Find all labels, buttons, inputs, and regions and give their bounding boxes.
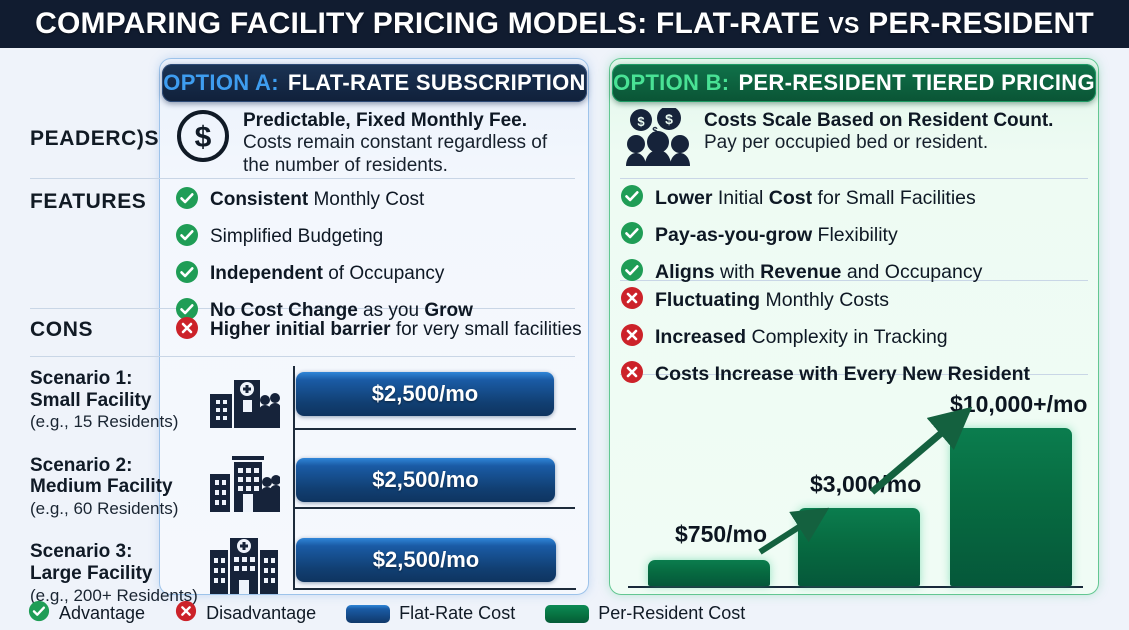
scenario-subtitle: (e.g., 60 Residents) bbox=[30, 499, 210, 519]
option-b-headline-text: Costs Scale Based on Resident Count. Pay… bbox=[704, 108, 1053, 155]
divider-pros-features bbox=[30, 178, 575, 179]
list-item-bold: Higher initial barrier bbox=[210, 319, 391, 340]
flat-rate-bar-row-2: $2,500/mo bbox=[208, 450, 578, 522]
page-title-vs: VS bbox=[829, 12, 860, 38]
list-item-bold: Increased bbox=[655, 326, 746, 348]
check-circle-icon bbox=[620, 258, 644, 287]
x-circle-icon bbox=[620, 323, 644, 352]
option-a-pros-list: Consistent Monthly Cost Simplified Budge… bbox=[175, 186, 580, 334]
per-resident-bar-3 bbox=[950, 428, 1072, 586]
per-resident-bar-label-1: $750/mo bbox=[675, 521, 767, 548]
list-item: Fluctuating Monthly Costs bbox=[620, 286, 1090, 315]
scenario-label-3: Scenario 3: Large Facility (e.g., 200+ R… bbox=[30, 541, 210, 606]
option-b-cons-list: Fluctuating Monthly Costs Increased Comp… bbox=[620, 286, 1090, 397]
list-item-text: with bbox=[715, 261, 761, 283]
flat-rate-baseline-2 bbox=[293, 507, 575, 509]
check-circle-icon bbox=[175, 186, 199, 215]
page-title: COMPARING FACILITY PRICING MODELS: FLAT-… bbox=[35, 7, 1094, 41]
scenario-title-line1: Scenario 3: bbox=[30, 541, 210, 563]
list-item-text: Complexity in Tracking bbox=[746, 326, 948, 348]
svg-text:$: $ bbox=[637, 114, 645, 129]
row-label-features: FEATURES bbox=[30, 190, 146, 214]
list-item: Consistent Monthly Cost bbox=[175, 186, 580, 215]
check-circle-icon bbox=[175, 260, 199, 289]
legend-item-per-resident: Per-Resident Cost bbox=[545, 603, 745, 624]
page-title-main: COMPARING FACILITY PRICING MODELS: FLAT-… bbox=[35, 7, 828, 40]
check-circle-icon bbox=[620, 221, 644, 250]
list-item-text-2: and Occupancy bbox=[841, 261, 982, 283]
list-item-text: Simplified Budgeting bbox=[210, 226, 383, 247]
option-b-pros-list: Lower Initial Cost for Small Facilities … bbox=[620, 184, 1090, 295]
scenario-title-line1: Scenario 2: bbox=[30, 455, 210, 477]
list-item-bold: Independent bbox=[210, 263, 323, 284]
dollar-circle-icon: $ bbox=[175, 108, 231, 169]
per-resident-bar-chart: $750/mo $3,000/mo $10,000+/mo bbox=[620, 382, 1090, 594]
list-item-bold: Fluctuating bbox=[655, 289, 760, 311]
flat-rate-bar-row-1: $2,500/mo bbox=[208, 372, 578, 444]
chart-b-baseline bbox=[628, 586, 1083, 588]
list-item: Simplified Budgeting bbox=[175, 223, 580, 252]
svg-text:$: $ bbox=[195, 121, 212, 154]
title-bar: COMPARING FACILITY PRICING MODELS: FLAT-… bbox=[0, 0, 1129, 48]
list-item-bold: Lower bbox=[655, 187, 712, 209]
option-a-headline-line2: Costs remain constant regardless of bbox=[243, 132, 547, 155]
option-b-tag: OPTION B: bbox=[613, 70, 729, 96]
flat-rate-bar-value-2: $2,500/mo bbox=[372, 467, 478, 493]
scenario-label-1: Scenario 1: Small Facility (e.g., 15 Res… bbox=[30, 368, 210, 433]
list-item-text: Monthly Costs bbox=[760, 289, 889, 311]
legend-label-flat-rate: Flat-Rate Cost bbox=[399, 603, 515, 624]
legend-item-advantage: Advantage bbox=[28, 600, 145, 627]
list-item-text: Flexibility bbox=[812, 224, 898, 246]
scenario-title-line2: Medium Facility bbox=[30, 476, 210, 498]
list-item-text: of Occupancy bbox=[323, 263, 444, 284]
option-a-headline-line1: Predictable, Fixed Monthly Fee. bbox=[243, 110, 547, 132]
list-item-text-2: for Small Facilities bbox=[812, 187, 976, 209]
flat-rate-bar-1: $2,500/mo bbox=[296, 372, 554, 416]
legend-label-disadvantage: Disadvantage bbox=[206, 603, 316, 624]
scenario-title-line2: Small Facility bbox=[30, 390, 210, 412]
option-a-tag: OPTION A: bbox=[163, 70, 279, 96]
x-circle-icon bbox=[175, 600, 197, 627]
list-item-bold-2: Revenue bbox=[760, 261, 841, 283]
list-item-text: Monthly Cost bbox=[308, 189, 424, 210]
x-circle-icon bbox=[175, 316, 199, 345]
option-a-header[interactable]: OPTION A:FLAT-RATE SUBSCRIPTION bbox=[162, 64, 587, 102]
small-hospital-icon bbox=[208, 378, 280, 435]
list-item-text: Initial bbox=[712, 187, 768, 209]
svg-text:$: $ bbox=[652, 126, 658, 137]
scenario-subtitle: (e.g., 15 Residents) bbox=[30, 412, 210, 432]
blue-swatch-icon bbox=[346, 605, 390, 623]
flat-rate-bar-value-1: $2,500/mo bbox=[372, 381, 478, 407]
legend: Advantage Disadvantage Flat-Rate Cost Pe… bbox=[28, 600, 775, 627]
row-label-cons: CONS bbox=[30, 318, 93, 342]
per-resident-bar-1 bbox=[648, 560, 770, 586]
people-with-coins-icon: $ $ $ bbox=[624, 108, 692, 171]
scenario-title-line2: Large Facility bbox=[30, 563, 210, 585]
list-item: Aligns with Revenue and Occupancy bbox=[620, 258, 1090, 287]
option-b-header[interactable]: OPTION B:PER-RESIDENT TIERED PRICING bbox=[612, 64, 1096, 102]
flat-rate-baseline-3 bbox=[293, 588, 576, 590]
medium-hospital-icon bbox=[208, 456, 280, 517]
legend-label-per-resident: Per-Resident Cost bbox=[598, 603, 745, 624]
flat-rate-bar-2: $2,500/mo bbox=[296, 458, 555, 502]
check-circle-icon bbox=[620, 184, 644, 213]
legend-label-advantage: Advantage bbox=[59, 603, 145, 624]
per-resident-bar-label-3: $10,000+/mo bbox=[950, 391, 1087, 418]
infographic-root: COMPARING FACILITY PRICING MODELS: FLAT-… bbox=[0, 0, 1129, 630]
list-item: Independent of Occupancy bbox=[175, 260, 580, 289]
x-circle-icon bbox=[620, 286, 644, 315]
list-item: Lower Initial Cost for Small Facilities bbox=[620, 184, 1090, 213]
green-swatch-icon bbox=[545, 605, 589, 623]
list-item: Increased Complexity in Tracking bbox=[620, 323, 1090, 352]
list-item-bold-2: Cost bbox=[769, 187, 812, 209]
list-item-bold: Consistent bbox=[210, 189, 308, 210]
option-b-title: PER-RESIDENT TIERED PRICING bbox=[738, 70, 1094, 96]
list-item: Higher initial barrier for very small fa… bbox=[175, 316, 580, 345]
option-a-headline-text: Predictable, Fixed Monthly Fee. Costs re… bbox=[243, 108, 547, 178]
scenario-label-list: Scenario 1: Small Facility (e.g., 15 Res… bbox=[30, 368, 210, 628]
legend-item-disadvantage: Disadvantage bbox=[175, 600, 316, 627]
flat-rate-bar-chart: $2,500/mo bbox=[208, 366, 578, 594]
option-a-headline: $ Predictable, Fixed Monthly Fee. Costs … bbox=[175, 108, 575, 178]
per-resident-bar-2 bbox=[798, 508, 920, 586]
option-b-headline: $ $ $ Costs Scale Based on Resident Coun… bbox=[624, 108, 1086, 171]
list-item-text: for very small facilities bbox=[391, 319, 582, 340]
divider-cons-chart bbox=[30, 356, 575, 357]
large-hospital-icon bbox=[208, 532, 280, 599]
row-label-pros: PEADERC)S bbox=[30, 127, 159, 151]
scenario-label-2: Scenario 2: Medium Facility (e.g., 60 Re… bbox=[30, 455, 210, 520]
option-a-headline-line3: the number of residents. bbox=[243, 155, 547, 178]
option-a-cons-list: Higher initial barrier for very small fa… bbox=[175, 316, 580, 353]
check-circle-icon bbox=[175, 223, 199, 252]
divider-b-head bbox=[620, 178, 1088, 179]
option-a-title: FLAT-RATE SUBSCRIPTION bbox=[288, 70, 586, 96]
flat-rate-baseline-1 bbox=[293, 428, 576, 430]
legend-item-flat-rate: Flat-Rate Cost bbox=[346, 603, 515, 624]
per-resident-bar-label-2: $3,000/mo bbox=[810, 471, 921, 498]
list-item: Pay-as-you-grow Flexibility bbox=[620, 221, 1090, 250]
scenario-title-line1: Scenario 1: bbox=[30, 368, 210, 390]
list-item-bold: Aligns bbox=[655, 261, 715, 283]
flat-rate-bar-3: $2,500/mo bbox=[296, 538, 556, 582]
list-item-bold: Pay-as-you-grow bbox=[655, 224, 812, 246]
page-title-tail: PER-RESIDENT bbox=[860, 7, 1094, 40]
option-b-headline-line2: Pay per occupied bed or resident. bbox=[704, 132, 1053, 155]
option-b-headline-line1: Costs Scale Based on Resident Count. bbox=[704, 110, 1053, 132]
svg-text:$: $ bbox=[665, 111, 673, 127]
check-circle-icon bbox=[28, 600, 50, 627]
flat-rate-bar-value-3: $2,500/mo bbox=[373, 547, 479, 573]
